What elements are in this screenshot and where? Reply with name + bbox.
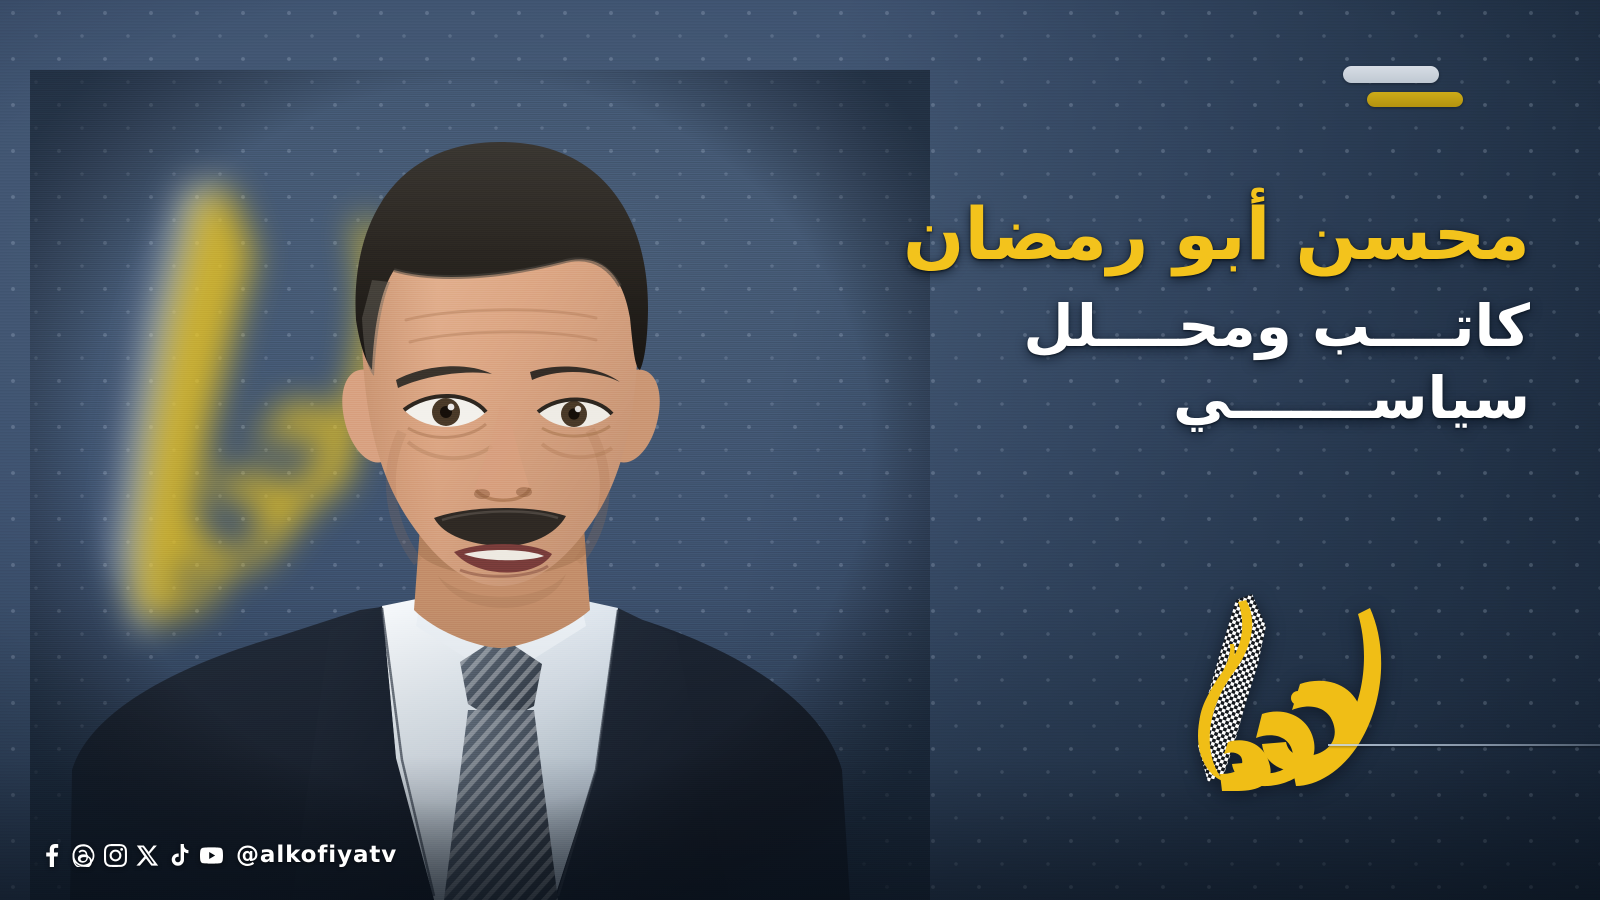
youtube-icon[interactable] [200, 844, 223, 867]
mark-bar-light [1343, 66, 1439, 83]
threads-icon[interactable] [72, 844, 95, 867]
channel-logo [1174, 586, 1424, 791]
guest-role: كاتــــب ومحــــلل سياســـــــي [810, 290, 1530, 435]
logo-divider-line [1328, 744, 1600, 746]
facebook-icon[interactable] [40, 844, 63, 867]
guest-name: محسن أبو رمضان [810, 196, 1530, 274]
social-handles-bar: @alkofiyatv [40, 842, 399, 868]
mark-bar-gold [1367, 92, 1463, 107]
social-handle-text: @alkofiyatv [236, 842, 397, 868]
tiktok-icon[interactable] [168, 844, 191, 867]
guest-card-banner: محسن أبو رمضان كاتــــب ومحــــلل سياســ… [0, 0, 1600, 900]
guest-role-line-2: سياســـــــي [810, 362, 1530, 435]
x-icon[interactable] [136, 844, 159, 867]
guest-role-line-1: كاتــــب ومحــــلل [810, 290, 1530, 363]
alkofiya-corner-mark [1343, 66, 1463, 110]
instagram-icon[interactable] [104, 844, 127, 867]
guest-text-block: محسن أبو رمضان كاتــــب ومحــــلل سياســ… [810, 196, 1530, 435]
